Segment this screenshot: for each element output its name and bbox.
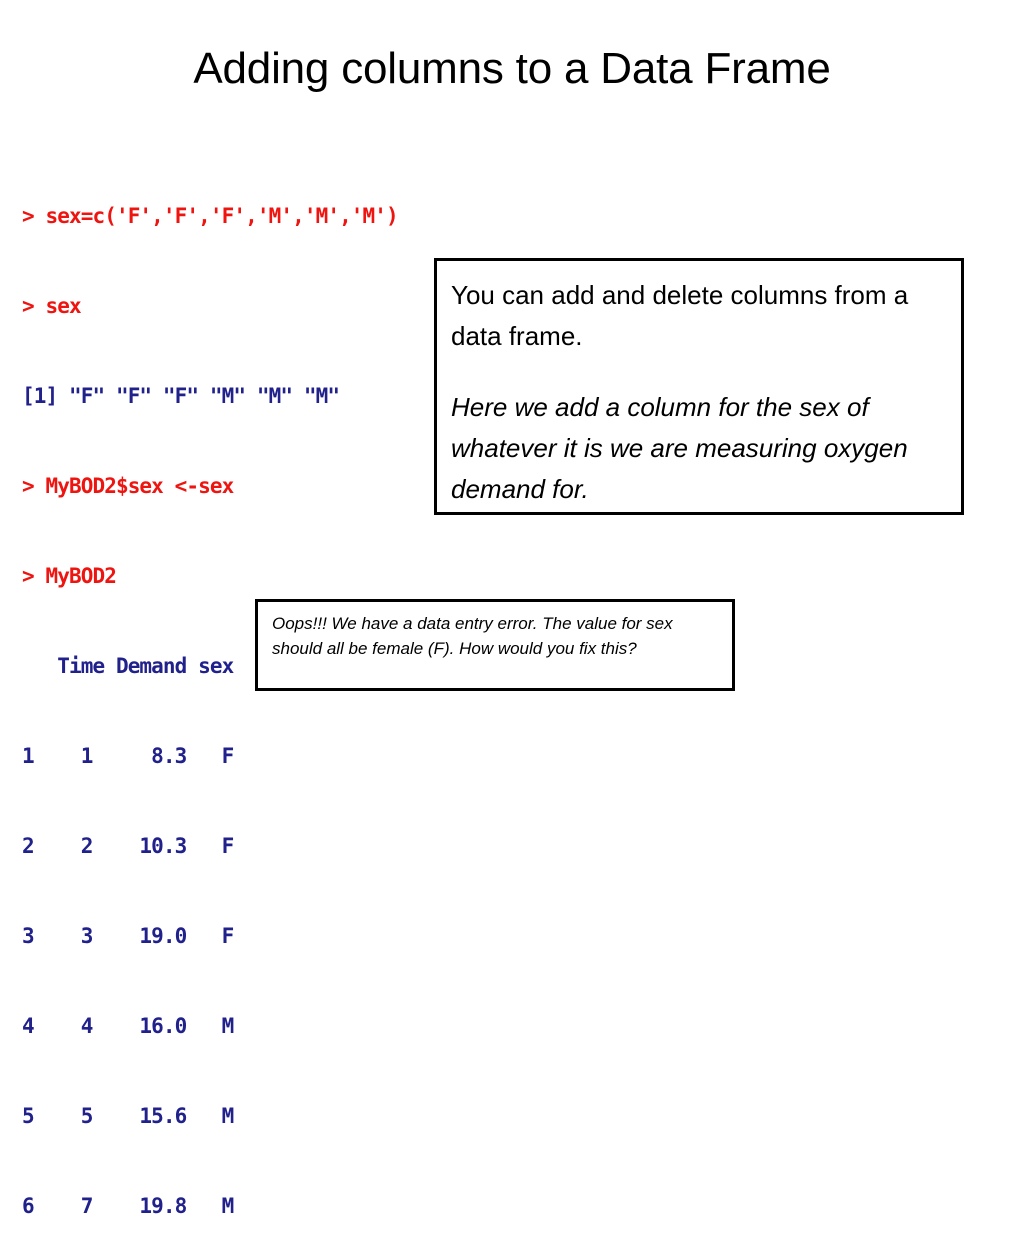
console-line: > sex=c('F','F','F','M','M','M') [22,201,398,231]
callout-box-explanation: You can add and delete columns from a da… [434,258,964,515]
console-line: > MyBOD2$sex <-sex [22,471,398,501]
console-line: > MyBOD2 [22,561,398,591]
callout-note-text: Oops!!! We have a data entry error. The … [272,611,720,661]
console-table-row: 5 5 15.6 M [22,1101,398,1131]
callout-paragraph-primary: You can add and delete columns from a da… [451,275,945,357]
console-table-row: 6 7 19.8 M [22,1191,398,1221]
page-title: Adding columns to a Data Frame [0,44,1024,94]
callout-paragraph-secondary: Here we add a column for the sex of what… [451,387,945,510]
console-line: [1] "F" "F" "F" "M" "M" "M" [22,381,398,411]
r-console-transcript: > sex=c('F','F','F','M','M','M') > sex [… [22,141,398,1251]
console-table-row: 3 3 19.0 F [22,921,398,951]
console-line: > sex [22,291,398,321]
console-table-row: 4 4 16.0 M [22,1011,398,1041]
paragraph-spacer [451,357,945,387]
console-table-row: 1 1 8.3 F [22,741,398,771]
callout-box-note: Oops!!! We have a data entry error. The … [255,599,735,691]
console-table-row: 2 2 10.3 F [22,831,398,861]
